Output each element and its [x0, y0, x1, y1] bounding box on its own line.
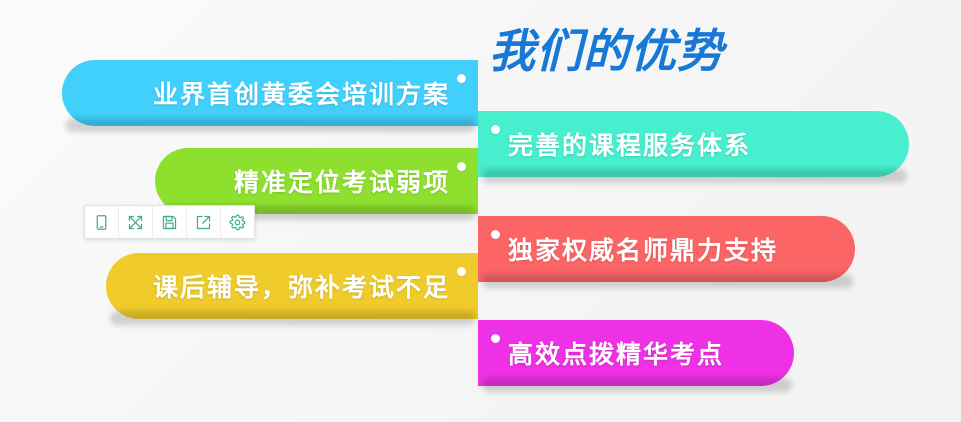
bar-after-class-tutoring[interactable]: 课后辅导，弥补考试不足 [106, 253, 478, 319]
connector-dot-icon [491, 125, 500, 134]
fullscreen-expand-button[interactable] [119, 206, 153, 238]
bar-industry-first-training-plan[interactable]: 业界首创黄委会培训方案 [62, 60, 478, 126]
save-button[interactable] [153, 206, 187, 238]
infographic-canvas: 我们的优势 业界首创黄委会培训方案 完善的课程服务体系 精准定位考试弱项 独家权… [0, 0, 961, 422]
connector-dot-icon [457, 267, 466, 276]
bar-label: 课后辅导，弥补考试不足 [153, 268, 450, 304]
settings-gear-icon [229, 214, 246, 231]
bar-label: 高效点拨精华考点 [508, 335, 724, 371]
bar-complete-course-service[interactable]: 完善的课程服务体系 [478, 111, 909, 177]
mobile-preview-button[interactable] [85, 206, 119, 238]
bar-label: 业界首创黄委会培训方案 [153, 75, 450, 111]
floating-toolbar[interactable] [84, 205, 255, 239]
connector-dot-icon [457, 162, 466, 171]
share-export-icon [195, 214, 212, 231]
connector-dot-icon [491, 334, 500, 343]
bar-label: 完善的课程服务体系 [508, 126, 751, 162]
settings-button[interactable] [221, 206, 254, 238]
share-export-button[interactable] [187, 206, 221, 238]
bar-label: 精准定位考试弱项 [234, 163, 450, 199]
bar-efficient-key-points[interactable]: 高效点拨精华考点 [478, 320, 794, 386]
connector-dot-icon [457, 74, 466, 83]
page-title: 我们的优势 [489, 24, 724, 78]
bar-exclusive-expert-support[interactable]: 独家权威名师鼎力支持 [478, 216, 855, 282]
mobile-preview-icon [93, 214, 110, 231]
bar-label: 独家权威名师鼎力支持 [508, 231, 778, 267]
connector-dot-icon [491, 230, 500, 239]
fullscreen-expand-icon [127, 214, 144, 231]
save-icon [161, 214, 178, 231]
